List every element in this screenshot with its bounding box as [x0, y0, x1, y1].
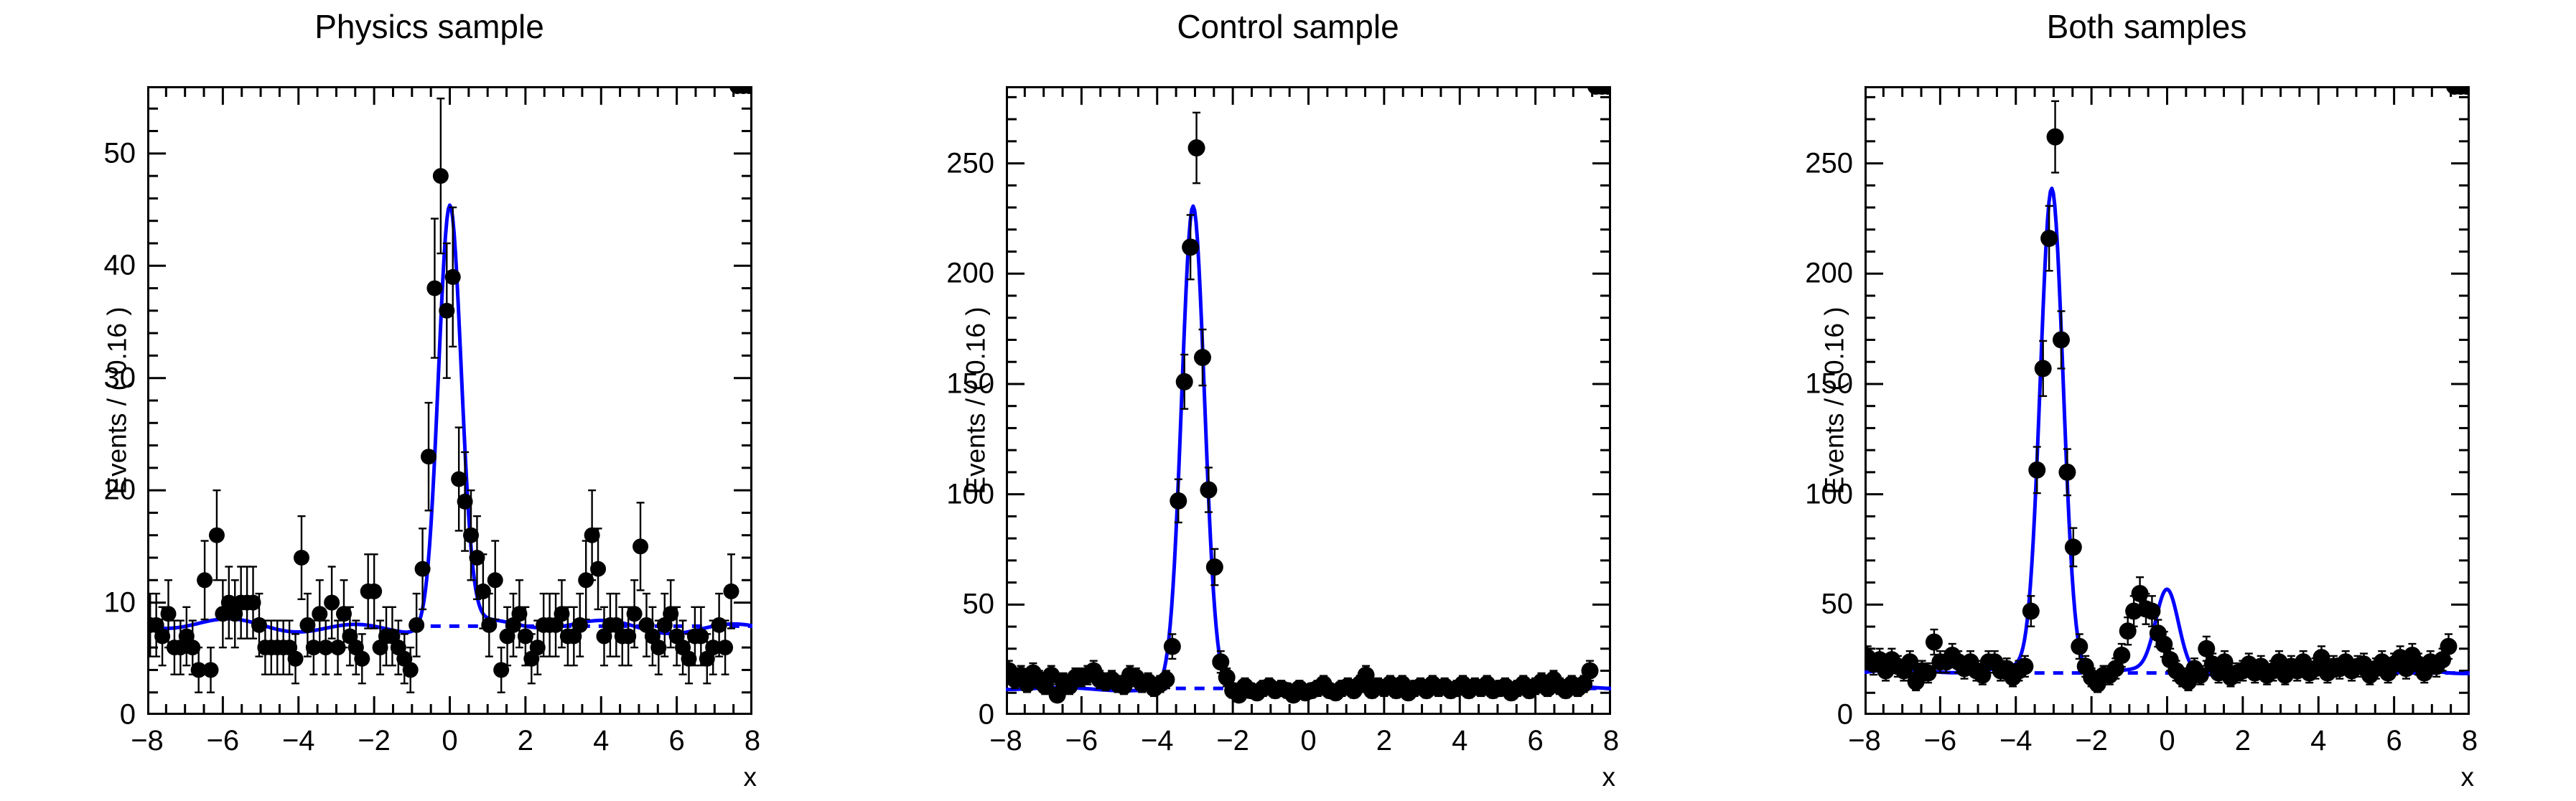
x-tick-label: −4	[1141, 725, 1174, 757]
y-tick-label: 150	[1805, 367, 1853, 400]
x-tick-label: −2	[2075, 725, 2108, 757]
x-tick-label: 6	[669, 725, 685, 757]
x-tick-label: −8	[989, 725, 1022, 757]
x-tick-label: −8	[1848, 725, 1881, 757]
data-point	[1170, 479, 1187, 523]
data-point	[2053, 311, 2070, 369]
y-tick-label: 40	[104, 250, 136, 282]
data-point	[2035, 341, 2052, 396]
x-tick-label: 0	[442, 725, 457, 757]
y-tick-label: 20	[104, 474, 136, 507]
panel-title: Both samples	[1717, 7, 2576, 46]
y-tick-label: 250	[946, 147, 994, 179]
data-points-group	[1006, 86, 1611, 703]
data-point	[1188, 113, 1205, 183]
x-tick-label: 8	[745, 725, 760, 757]
data-points-group	[1865, 86, 2470, 693]
x-tick-label: 6	[1528, 725, 1544, 757]
y-tick-label: 200	[946, 258, 994, 290]
data-point	[2022, 596, 2040, 626]
x-tick-label: 4	[1452, 725, 1467, 757]
total-fit-curve	[1865, 188, 2470, 674]
y-tick-label: 30	[104, 362, 136, 394]
data-point	[1194, 329, 1211, 385]
data-point	[2058, 449, 2076, 496]
data-point	[724, 554, 739, 628]
x-axis-label: x	[744, 762, 757, 792]
figure-canvas: Physics sampleEvents / ( 0.16 )x01020304…	[0, 0, 2576, 801]
panel-control-sample: Control sampleEvents / ( 0.16 )x05010015…	[859, 0, 1717, 801]
x-tick-label: 2	[1376, 725, 1392, 757]
data-point	[2047, 101, 2064, 173]
y-tick-label: 50	[1821, 589, 1854, 621]
x-tick-label: −2	[358, 725, 391, 757]
total-fit-curve	[1006, 206, 1611, 690]
data-point	[209, 490, 225, 580]
panel-physics-sample: Physics sampleEvents / ( 0.16 )x01020304…	[0, 0, 859, 801]
data-point	[1176, 355, 1193, 409]
x-tick-label: 2	[518, 725, 533, 757]
x-tick-label: −8	[131, 725, 164, 757]
data-point	[203, 647, 219, 693]
data-point	[1200, 467, 1217, 512]
plot-graphics	[1006, 86, 1611, 715]
x-tick-label: 0	[1300, 725, 1316, 757]
x-tick-label: 8	[1603, 725, 1619, 757]
x-tick-label: 6	[2386, 725, 2402, 757]
y-axis-label: Events / ( 0.16 )	[103, 306, 133, 494]
data-point	[1206, 549, 1223, 585]
y-axis-label: Events / ( 0.16 )	[961, 306, 991, 494]
x-tick-label: 0	[2159, 725, 2175, 757]
data-point	[633, 502, 648, 590]
plot-graphics	[147, 86, 752, 715]
panel-title: Physics sample	[0, 7, 859, 46]
y-tick-label: 50	[104, 137, 136, 169]
total-fit-curve	[147, 205, 752, 634]
data-point	[2065, 528, 2082, 566]
x-tick-label: 4	[593, 725, 609, 757]
x-axis-label: x	[1602, 762, 1616, 792]
plot-area: Events / ( 0.16 )x01020304050−8−6−4−2024…	[147, 86, 752, 715]
axis-ticks	[1006, 86, 1611, 715]
panel-title: Control sample	[859, 7, 1717, 46]
x-tick-label: −6	[207, 725, 240, 757]
data-point	[294, 516, 309, 599]
x-tick-label: −4	[1999, 725, 2033, 757]
y-tick-label: 200	[1805, 258, 1853, 290]
x-tick-label: 2	[2235, 725, 2251, 757]
y-tick-label: 50	[963, 589, 995, 621]
x-tick-label: 8	[2462, 725, 2478, 757]
plot-area: Events / ( 0.16 )x050100150200250−8−6−4−…	[1006, 86, 1611, 715]
y-tick-label: 100	[946, 478, 994, 510]
panel-both-samples: Both samplesEvents / ( 0.16 )x0501001502…	[1717, 0, 2576, 801]
data-points-group	[147, 86, 752, 693]
x-tick-label: 4	[2310, 725, 2326, 757]
x-tick-label: −4	[282, 725, 315, 757]
plot-graphics	[1865, 86, 2470, 715]
x-axis-label: x	[2461, 762, 2475, 792]
x-tick-label: −6	[1924, 725, 1957, 757]
y-tick-label: 10	[104, 586, 136, 619]
x-tick-label: −6	[1065, 725, 1098, 757]
axis-ticks	[1865, 86, 2470, 715]
data-point	[2028, 447, 2045, 494]
y-tick-label: 250	[1805, 147, 1853, 179]
y-tick-label: 150	[946, 367, 994, 400]
plot-area: Events / ( 0.16 )x050100150200250−8−6−4−…	[1865, 86, 2470, 715]
y-axis-label: Events / ( 0.16 )	[1820, 306, 1850, 494]
x-tick-label: −2	[1216, 725, 1249, 757]
data-point	[197, 541, 213, 620]
y-tick-label: 100	[1805, 478, 1853, 510]
